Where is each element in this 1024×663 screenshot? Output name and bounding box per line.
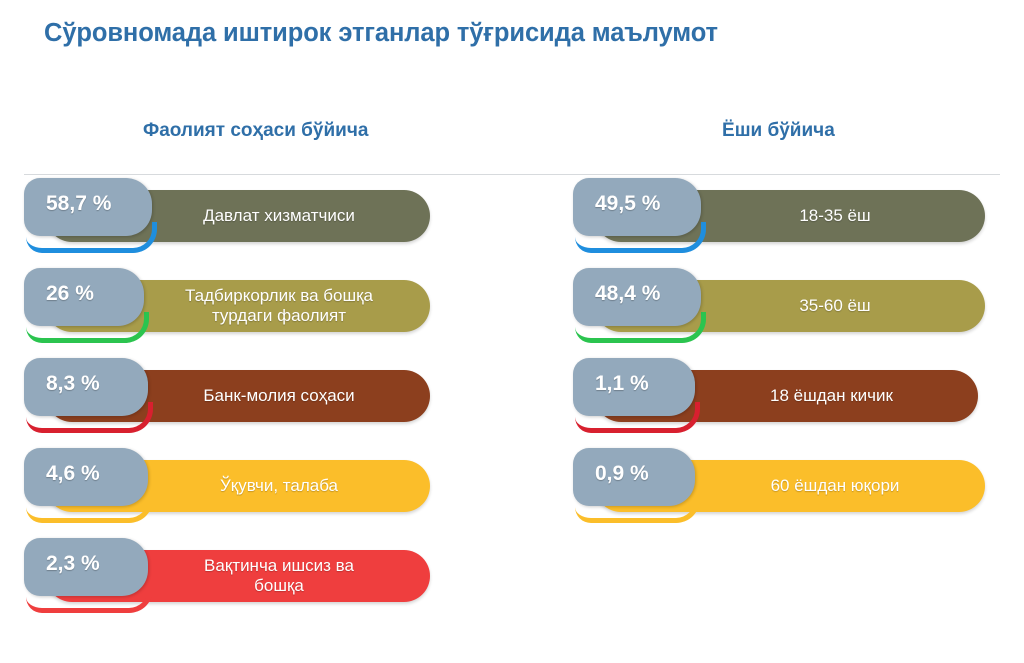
chart-column-by-age: 18-35 ёш49,5 %35-60 ёш48,4 %18 ёшдан кич… <box>573 178 963 538</box>
percentage-tab: 48,4 % <box>573 268 701 326</box>
infographic-slide: Сўровномада иштирок этганлар тўғрисида м… <box>0 0 1024 663</box>
bar-label: 18-35 ёш <box>695 206 884 226</box>
percentage-tab: 58,7 % <box>24 178 152 236</box>
chart-column-by-activity: Давлат хизматчиси58,7 %Тадбиркорлик ва б… <box>24 178 414 628</box>
bar-label: Ўқувчи, талаба <box>124 476 352 496</box>
bar-row: Ўқувчи, талаба4,6 % <box>24 448 414 520</box>
bar-row: Давлат хизматчиси58,7 % <box>24 178 414 250</box>
header-divider <box>24 174 1000 175</box>
percentage-value: 58,7 % <box>24 192 111 222</box>
bar-row: Вақтинча ишсиз ва бошқа2,3 % <box>24 538 414 610</box>
percentage-value: 4,6 % <box>24 462 100 492</box>
percentage-tab: 2,3 % <box>24 538 148 596</box>
percentage-value: 26 % <box>24 282 94 312</box>
percentage-value: 48,4 % <box>573 282 660 312</box>
percentage-tab: 49,5 % <box>573 178 701 236</box>
page-title: Сўровномада иштирок этганлар тўғрисида м… <box>44 19 718 48</box>
bar-row: Тадбиркорлик ва бошқа турдаги фаолият26 … <box>24 268 414 340</box>
percentage-tab: 8,3 % <box>24 358 148 416</box>
percentage-value: 1,1 % <box>573 372 649 402</box>
column-header-by-activity: Фаолият соҳаси бўйича <box>143 120 368 142</box>
percentage-value: 8,3 % <box>24 372 100 402</box>
percentage-tab: 4,6 % <box>24 448 148 506</box>
bar-row: 60 ёшдан юқори0,9 % <box>573 448 963 520</box>
percentage-value: 0,9 % <box>573 462 649 492</box>
bar-label: 60 ёшдан юқори <box>667 476 914 496</box>
bar-row: Банк-молия соҳаси8,3 % <box>24 358 414 430</box>
bar-row: 18-35 ёш49,5 % <box>573 178 963 250</box>
bar-label: 35-60 ёш <box>695 296 884 316</box>
bar-row: 35-60 ёш48,4 % <box>573 268 963 340</box>
percentage-tab: 1,1 % <box>573 358 695 416</box>
bar-label: 18 ёшдан кичик <box>666 386 907 406</box>
percentage-tab: 0,9 % <box>573 448 695 506</box>
percentage-tab: 26 % <box>24 268 144 326</box>
percentage-value: 2,3 % <box>24 552 100 582</box>
bar-row: 18 ёшдан кичик1,1 % <box>573 358 963 430</box>
percentage-value: 49,5 % <box>573 192 660 222</box>
column-header-by-age: Ёши бўйича <box>722 120 835 142</box>
